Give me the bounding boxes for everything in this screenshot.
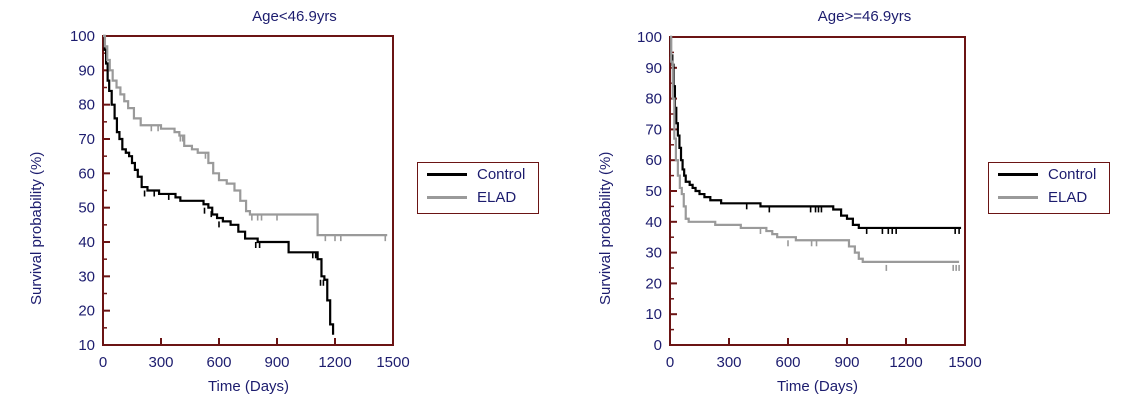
- y-tick-label: 10: [78, 337, 95, 354]
- legend-item-control-right: Control: [989, 163, 1109, 186]
- x-axis-ticks: 030060090012001500: [666, 338, 982, 370]
- legend-label-control-right: Control: [1048, 167, 1096, 182]
- legend-swatch-control-right: [998, 173, 1038, 176]
- legend-item-elad-left: ELAD: [418, 186, 538, 209]
- y-tick-label: 40: [78, 234, 95, 251]
- x-axis-ticks: 030060090012001500: [99, 338, 410, 370]
- plot-area-right: 0102030405060708090100030060090012001500: [571, 0, 991, 370]
- y-tick-label: 90: [645, 60, 662, 77]
- y-tick-label: 20: [78, 303, 95, 320]
- legend-swatch-control-left: [427, 173, 467, 176]
- y-tick-label: 70: [645, 121, 662, 138]
- x-tick-label: 0: [99, 354, 107, 370]
- x-tick-label: 600: [775, 354, 800, 370]
- y-tick-label: 60: [645, 152, 662, 169]
- y-tick-label: 0: [654, 337, 662, 354]
- y-tick-label: 30: [645, 245, 662, 262]
- legend-swatch-elad-left: [427, 196, 467, 199]
- survival-curve: [103, 36, 387, 235]
- series-control: [103, 36, 333, 335]
- x-tick-label: 600: [206, 354, 231, 370]
- survival-figure: Age<46.9yrs Survival probability (%) 102…: [0, 0, 1142, 415]
- plot-frame: [670, 37, 965, 345]
- plot-area-left: 102030405060708090100030060090012001500: [0, 0, 420, 370]
- y-tick-label: 90: [78, 62, 95, 79]
- x-axis-label-right: Time (Days): [670, 378, 965, 395]
- y-tick-label: 50: [78, 200, 95, 217]
- plot-svg-left: 102030405060708090100030060090012001500: [0, 0, 420, 370]
- x-axis-label-left: Time (Days): [103, 378, 394, 395]
- legend-item-control-left: Control: [418, 163, 538, 186]
- y-tick-label: 100: [637, 29, 662, 46]
- x-tick-label: 0: [666, 354, 674, 370]
- legend-item-elad-right: ELAD: [989, 186, 1109, 209]
- y-tick-label: 10: [645, 306, 662, 323]
- legend-left: Control ELAD: [417, 162, 539, 214]
- y-tick-label: 80: [78, 97, 95, 114]
- x-tick-label: 300: [148, 354, 173, 370]
- y-tick-label: 40: [645, 214, 662, 231]
- y-tick-label: 70: [78, 131, 95, 148]
- censor-marks: [145, 191, 324, 286]
- legend-right: Control ELAD: [988, 162, 1110, 214]
- x-tick-label: 300: [716, 354, 741, 370]
- panel-age-gte: Age>=46.9yrs Survival probability (%) 01…: [571, 0, 1142, 415]
- legend-label-elad-right: ELAD: [1048, 190, 1087, 205]
- x-tick-label: 900: [264, 354, 289, 370]
- survival-curve: [103, 36, 333, 335]
- y-tick-label: 60: [78, 165, 95, 182]
- x-tick-label: 1200: [318, 354, 351, 370]
- y-tick-label: 30: [78, 268, 95, 285]
- survival-curve: [670, 37, 961, 228]
- x-tick-label: 1500: [948, 354, 981, 370]
- x-tick-label: 1200: [889, 354, 922, 370]
- legend-label-elad-left: ELAD: [477, 190, 516, 205]
- series-control: [670, 37, 961, 234]
- y-tick-label: 80: [645, 91, 662, 108]
- y-tick-label: 50: [645, 183, 662, 200]
- legend-swatch-elad-right: [998, 196, 1038, 199]
- y-tick-label: 100: [70, 28, 95, 45]
- panel-age-lt: Age<46.9yrs Survival probability (%) 102…: [0, 0, 571, 415]
- censor-marks: [760, 228, 959, 271]
- plot-svg-right: 0102030405060708090100030060090012001500: [571, 0, 991, 370]
- censor-marks: [151, 125, 385, 241]
- y-tick-label: 20: [645, 275, 662, 292]
- x-tick-label: 900: [834, 354, 859, 370]
- series-elad: [670, 37, 959, 271]
- series-elad: [103, 36, 387, 241]
- legend-label-control-left: Control: [477, 167, 525, 182]
- plot-frame-rect: [670, 37, 965, 345]
- x-tick-label: 1500: [376, 354, 409, 370]
